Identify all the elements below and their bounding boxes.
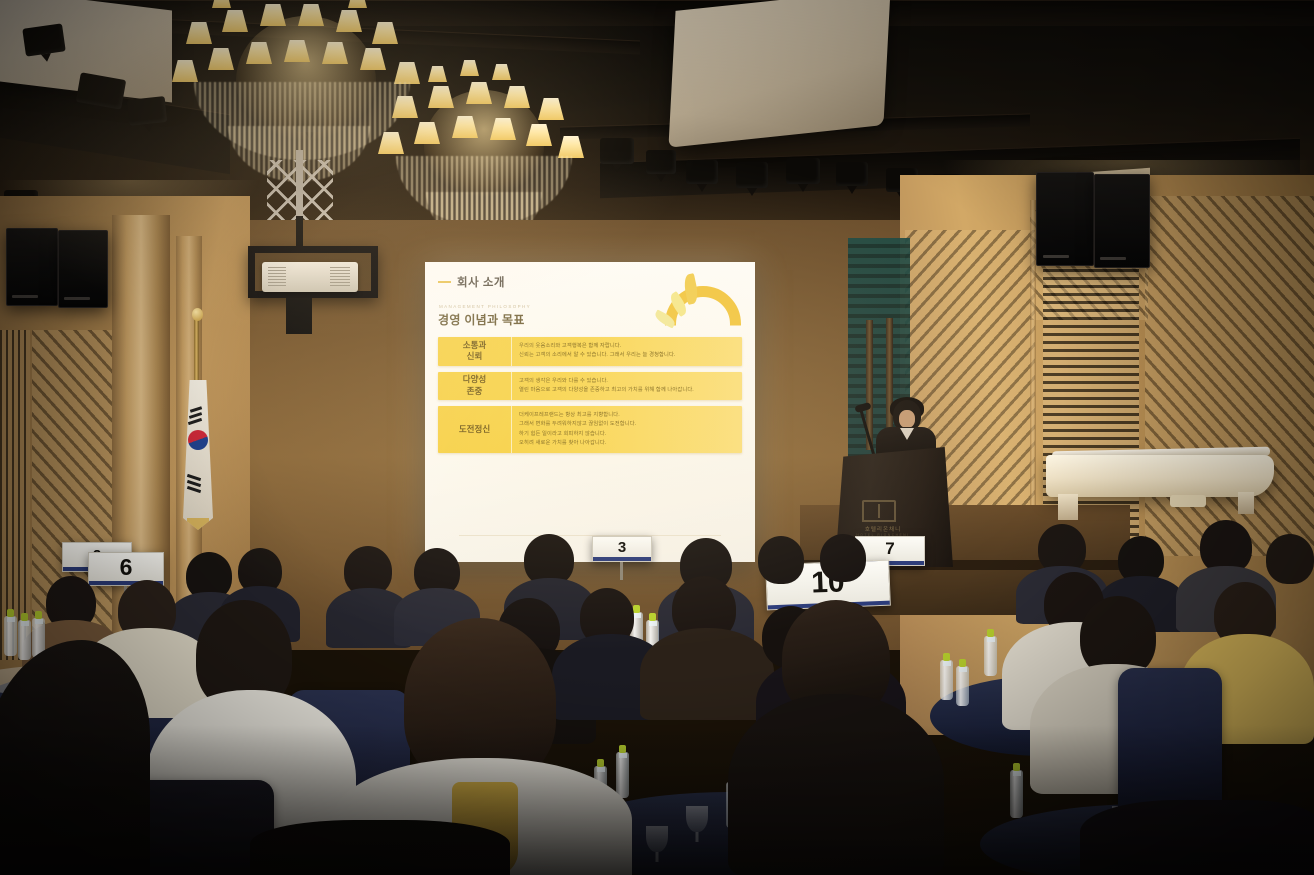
taeguk-circle (188, 430, 208, 450)
stage-spotlight (646, 150, 676, 174)
audience-head (820, 534, 866, 582)
stage-spotlight (600, 138, 634, 164)
slide-value-line: 하기 힘든 일이라고 회피하지 않습니다. (519, 430, 735, 439)
sunrise-leaf-logo-icon (651, 268, 743, 328)
audience-head (758, 536, 804, 584)
table-number-value: 7 (885, 539, 894, 559)
piano-leg (1058, 494, 1078, 520)
slide-value-line: 신뢰는 고객의 소리에서 알 수 있습니다. 그래서 우리는 늘 경청합니다. (519, 351, 735, 360)
slide-value-key: 다양성 존중 (438, 372, 512, 401)
slide-value-line: 고객의 생각은 우리와 다를 수 있습니다. (519, 377, 735, 386)
table-number-value: 3 (618, 539, 626, 556)
audience-shoulders (640, 628, 774, 720)
stage-spotlight (22, 23, 66, 56)
speaker-face (899, 410, 915, 428)
wall-speaker (58, 230, 108, 308)
water-bottle (940, 660, 953, 700)
piano-leg (1238, 492, 1254, 514)
slide-header-title: 회사 소개 (457, 274, 505, 290)
slide-dash-icon (438, 281, 451, 283)
projector-stalk (286, 298, 312, 334)
piano-lyre (1170, 495, 1206, 507)
stage-spotlight (127, 96, 168, 126)
table-number-value: 6 (120, 554, 133, 581)
audience-foreground-silhouette (0, 640, 150, 875)
projector-mount (296, 216, 303, 248)
event-hall-photo: 회사 소개 MANAGEMENT PHILOSOPHY 경영 이념과 목표 소통… (0, 0, 1314, 875)
venue-logo-icon (862, 500, 896, 522)
slide-value-line: 그래서 변화를 두려워하지않고 끊임없이 도전합니다. (519, 420, 735, 429)
slide-value-row: 도전정신 더케이프레프랜드는 항상 최고를 지향합니다. 그래서 변화를 두려워… (438, 406, 742, 453)
slide-value-key: 소통과 신뢰 (438, 337, 512, 366)
water-bottle (616, 752, 629, 798)
water-bottle (1010, 770, 1023, 818)
slide-value-body: 고객의 생각은 우리와 다를 수 있습니다. 열린 마음으로 고객의 다양성을 … (512, 372, 742, 401)
decor-pole (886, 318, 893, 438)
water-bottle (984, 636, 997, 676)
ceiling-acoustic-panel (668, 0, 890, 148)
water-bottle (4, 616, 17, 656)
audience-foreground-silhouette (1080, 800, 1314, 875)
slide-value-line: 열린 마음으로 고객의 다양성을 존중하고 최고의 가치를 위해 함께 나아갑니… (519, 386, 735, 395)
stage-spotlight (686, 160, 718, 184)
water-bottle (18, 620, 31, 660)
wall-speaker (6, 228, 58, 306)
chair (1118, 668, 1222, 818)
stage-spotlight (786, 158, 820, 184)
audience-shoulders (728, 694, 944, 875)
audience-foreground-silhouette (250, 820, 510, 875)
slide-value-key-line2: 신뢰 (467, 351, 483, 362)
venue-name: 호텔리온채니 (840, 525, 926, 533)
wall-speaker (1036, 172, 1094, 266)
water-bottle (956, 666, 969, 706)
stage-spotlight (836, 162, 868, 186)
slide-value-row: 소통과 신뢰 우리의 웃음소리와 고객행복은 함께 자랍니다. 신뢰는 고객의 … (438, 337, 742, 366)
slide-divider (459, 535, 721, 536)
slide-value-key-line1: 다양성 (463, 374, 486, 385)
slide-value-line: 오히려 새로운 가치를 찾아 나아갑니다. (519, 439, 735, 448)
slide-value-body: 더케이프레프랜드는 항상 최고를 지향합니다. 그래서 변화를 두려워하지않고 … (512, 406, 742, 453)
slide-value-line: 우리의 웃음소리와 고객행복은 함께 자랍니다. (519, 342, 735, 351)
audience-head (1266, 534, 1314, 584)
projection-screen: 회사 소개 MANAGEMENT PHILOSOPHY 경영 이념과 목표 소통… (425, 262, 755, 562)
slide-value-key-line1: 도전정신 (459, 424, 490, 435)
wall-slat-panel (0, 330, 30, 660)
slide-value-key: 도전정신 (438, 406, 512, 453)
flag-cloth (183, 380, 213, 530)
stage-spotlight (736, 162, 768, 188)
table-number-stem (620, 562, 623, 580)
flag-finial (192, 308, 203, 321)
grand-piano (1046, 455, 1274, 497)
slide-value-line: 더케이프레프랜드는 항상 최고를 지향합니다. (519, 411, 735, 420)
table-number-sign: 3 (592, 536, 652, 562)
slide-value-body: 우리의 웃음소리와 고객행복은 함께 자랍니다. 신뢰는 고객의 소리에서 알 … (512, 337, 742, 366)
slide-value-key-line2: 존중 (467, 386, 483, 397)
projector (262, 262, 358, 292)
slide-value-row: 다양성 존중 고객의 생각은 우리와 다를 수 있습니다. 열린 마음으로 고객… (438, 372, 742, 401)
presentation-slide: 회사 소개 MANAGEMENT PHILOSOPHY 경영 이념과 목표 소통… (425, 262, 755, 562)
korean-flag (180, 316, 216, 546)
slide-value-key-line1: 소통과 (463, 340, 486, 351)
wall-speaker (1094, 174, 1150, 268)
